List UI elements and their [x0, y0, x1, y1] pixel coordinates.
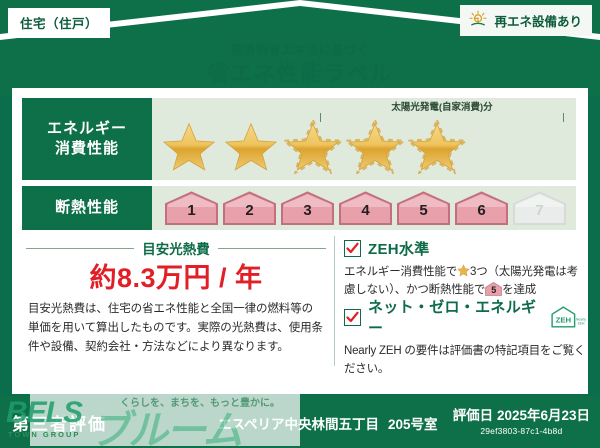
insulation-level-7: 7 — [512, 191, 567, 225]
energy-performance-label: エネルギー 消費性能 — [22, 98, 152, 180]
insulation-level-number: 3 — [280, 202, 335, 219]
insulation-level-number: 5 — [396, 202, 451, 219]
solar-bracket-label: 太陽光発電(自家消費)分 — [320, 99, 564, 113]
zeh-standard-description: エネルギー消費性能で3つ（太陽光発電は考慮しない）、かつ断熱性能で5を達成 — [344, 263, 588, 300]
cost-heading: 目安光熱費 — [26, 238, 326, 258]
svg-text:ZEH: ZEH — [577, 322, 584, 326]
star-icon — [346, 118, 404, 174]
zeh-standard-title-row: ZEH水準 — [344, 238, 588, 259]
insulation-performance-row: 断熱性能 1234567 — [22, 186, 576, 230]
star-icon — [160, 118, 218, 174]
insulation-level-2: 2 — [222, 191, 277, 225]
insulation-level-number: 7 — [512, 202, 567, 219]
sun-icon — [468, 10, 488, 30]
mini-house-icon: 5 — [485, 282, 502, 296]
evaluation-id: 29ef3803-87c1-4b8d — [453, 426, 590, 436]
renewable-equipment-badge: 再エネ設備あり — [460, 5, 592, 36]
insulation-level-scale: 1234567 — [164, 191, 567, 225]
label-title: 省エネ性能ラベル — [0, 56, 600, 88]
zeh-star-count: 3つ — [470, 266, 488, 278]
insulation-level-6: 6 — [454, 191, 509, 225]
zeh-net-zero-block: ネット・ゼロ・エネルギー ZEH Nearly ZEH Nearly ZEH の… — [344, 296, 588, 379]
cost-rule-right — [218, 248, 326, 249]
svg-text:ZEH: ZEH — [556, 316, 572, 325]
cost-rule-left — [26, 248, 134, 249]
insulation-level-1: 1 — [164, 191, 219, 225]
svg-text:Nearly: Nearly — [576, 318, 586, 322]
vertical-divider — [334, 236, 335, 366]
insulation-performance-body: 1234567 — [152, 186, 576, 230]
zeh-desc-part3: を達成 — [502, 284, 536, 296]
insulation-performance-label: 断熱性能 — [22, 186, 152, 230]
zeh-net-title: ネット・ゼロ・エネルギー — [368, 296, 543, 338]
label-card: エネルギー 消費性能 太陽光発電(自家消費)分 断熱性能 1234567 — [12, 88, 588, 394]
cost-heading-text: 目安光熱費 — [142, 238, 210, 258]
solar-bracket-text: 太陽光発電(自家消費)分 — [387, 102, 496, 113]
cost-note: 目安光熱費は、住宅の省エネ性能と全国一律の燃料等の単価を用いて算出したものです。… — [28, 300, 324, 357]
checkmark-icon — [344, 240, 361, 257]
star-rating — [160, 118, 466, 174]
star-icon — [222, 118, 280, 174]
evaluation-date-block: 評価日 2025年6月23日 29ef3803-87c1-4b8d — [453, 404, 590, 436]
insulation-level-3: 3 — [280, 191, 335, 225]
evaluation-date: 評価日 2025年6月23日 — [453, 404, 590, 424]
insulation-level-4: 4 — [338, 191, 393, 225]
energy-performance-row: エネルギー 消費性能 太陽光発電(自家消費)分 — [22, 98, 576, 180]
housing-type-badge: 住宅（住戸） — [8, 8, 110, 38]
star-icon — [408, 118, 466, 174]
zeh-standard-block: ZEH水準 エネルギー消費性能で3つ（太陽光発電は考慮しない）、かつ断熱性能で5… — [344, 238, 588, 300]
energy-label-line2: 消費性能 — [55, 139, 119, 159]
mini-star-icon — [457, 264, 470, 277]
zeh-net-title-row: ネット・ゼロ・エネルギー ZEH Nearly ZEH — [344, 296, 588, 338]
insulation-level-number: 4 — [338, 202, 393, 219]
insulation-level-number: 6 — [454, 202, 509, 219]
energy-performance-body: 太陽光発電(自家消費)分 — [152, 98, 576, 180]
third-party-evaluation-label: 第三者評価 — [12, 410, 107, 435]
zeh-net-description: Nearly ZEH の要件は評価書の特記項目をご覧ください。 — [344, 342, 588, 379]
star-icon — [284, 118, 342, 174]
insulation-level-number: 2 — [222, 202, 277, 219]
energy-label-line1: エネルギー — [47, 119, 127, 139]
property-address: エスペリア中央林間五丁目 — [218, 413, 379, 433]
zeh-logo-icon: ZEH Nearly ZEH — [550, 305, 588, 329]
insulation-level-5: 5 — [396, 191, 451, 225]
zeh-standard-title: ZEH水準 — [368, 238, 430, 259]
footer-bar: 第三者評価 エスペリア中央林間五丁目 205号室 評価日 2025年6月23日 … — [0, 396, 600, 448]
energy-label-page: 住宅（住戸） 再エネ設備あり 建築物省エネ法に基づく 省エネ性能ラベル — [0, 0, 600, 448]
insulation-level-number: 1 — [164, 202, 219, 219]
renewable-badge-label: 再エネ設備あり — [494, 11, 582, 30]
insulation-label-text: 断熱性能 — [55, 198, 119, 218]
zeh-desc-part1: エネルギー消費性能で — [344, 266, 457, 278]
property-room: 205号室 — [388, 413, 438, 433]
cost-value: 約8.3万円 / 年 — [26, 256, 326, 295]
checkmark-icon — [344, 309, 361, 326]
